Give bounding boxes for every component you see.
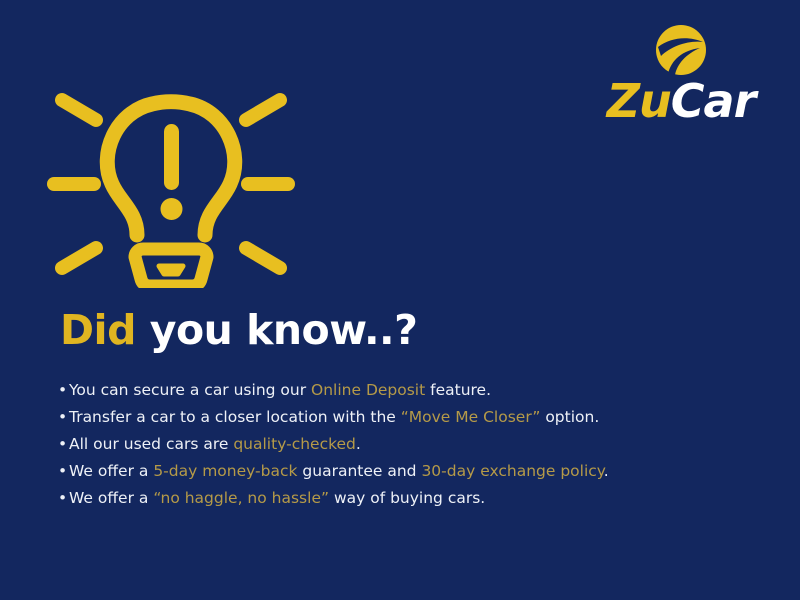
lightbulb-exclamation-icon [42,72,300,288]
list-item-text: option. [540,408,599,426]
list-item: •You can secure a car using our Online D… [58,377,758,404]
list-item-text: All our used cars are [69,435,233,453]
bullet-marker-icon: • [58,431,69,458]
exclamation-mark-icon [161,124,183,220]
ray-lower-left-icon [62,248,96,268]
list-item: •Transfer a car to a closer location wit… [58,404,758,431]
list-item-text: We offer a [69,489,153,507]
list-item: •All our used cars are quality-checked. [58,431,758,458]
title-accent-word: Did [60,306,136,354]
list-item-text: . [356,435,361,453]
bullet-marker-icon: • [58,485,69,512]
wordmark-zu: Zu [607,74,671,128]
zucar-wordmark: ZuCar [596,78,766,124]
highlighted-term: 30-day exchange policy [421,462,603,480]
zucar-circle-swoosh-icon [655,24,707,76]
bullet-marker-icon: • [58,458,69,485]
list-item-text: feature. [425,381,491,399]
highlighted-term: “no haggle, no hassle” [153,489,329,507]
fact-list: •You can secure a car using our Online D… [58,377,758,512]
list-item-text: . [604,462,609,480]
zucar-logo: ZuCar [596,24,766,124]
bullet-marker-icon: • [58,404,69,431]
promo-slide: ZuCar Did you know..? •You can secure a … [0,0,800,600]
bullet-marker-icon: • [58,377,69,404]
title-rest: you know..? [136,306,417,354]
highlighted-term: 5-day money-back [153,462,297,480]
list-item-text: guarantee and [297,462,421,480]
list-item-text: You can secure a car using our [69,381,311,399]
list-item-text: way of buying cars. [329,489,485,507]
bulb-base-slot [159,266,183,274]
list-item-text: We offer a [69,462,153,480]
ray-upper-right-icon [246,100,280,120]
highlighted-term: quality-checked [233,435,356,453]
wordmark-car: Car [671,74,756,128]
exclamation-bar [164,124,179,190]
list-item: •We offer a “no haggle, no hassle” way o… [58,485,758,512]
page-title: Did you know..? [60,306,417,354]
ray-lower-right-icon [246,248,280,268]
lightbulb-svg [42,72,300,288]
list-item: •We offer a 5-day money-back guarantee a… [58,458,758,485]
exclamation-dot [161,198,183,220]
ray-upper-left-icon [62,100,96,120]
list-item-text: Transfer a car to a closer location with… [69,408,401,426]
highlighted-term: Online Deposit [311,381,425,399]
highlighted-term: “Move Me Closer” [401,408,541,426]
